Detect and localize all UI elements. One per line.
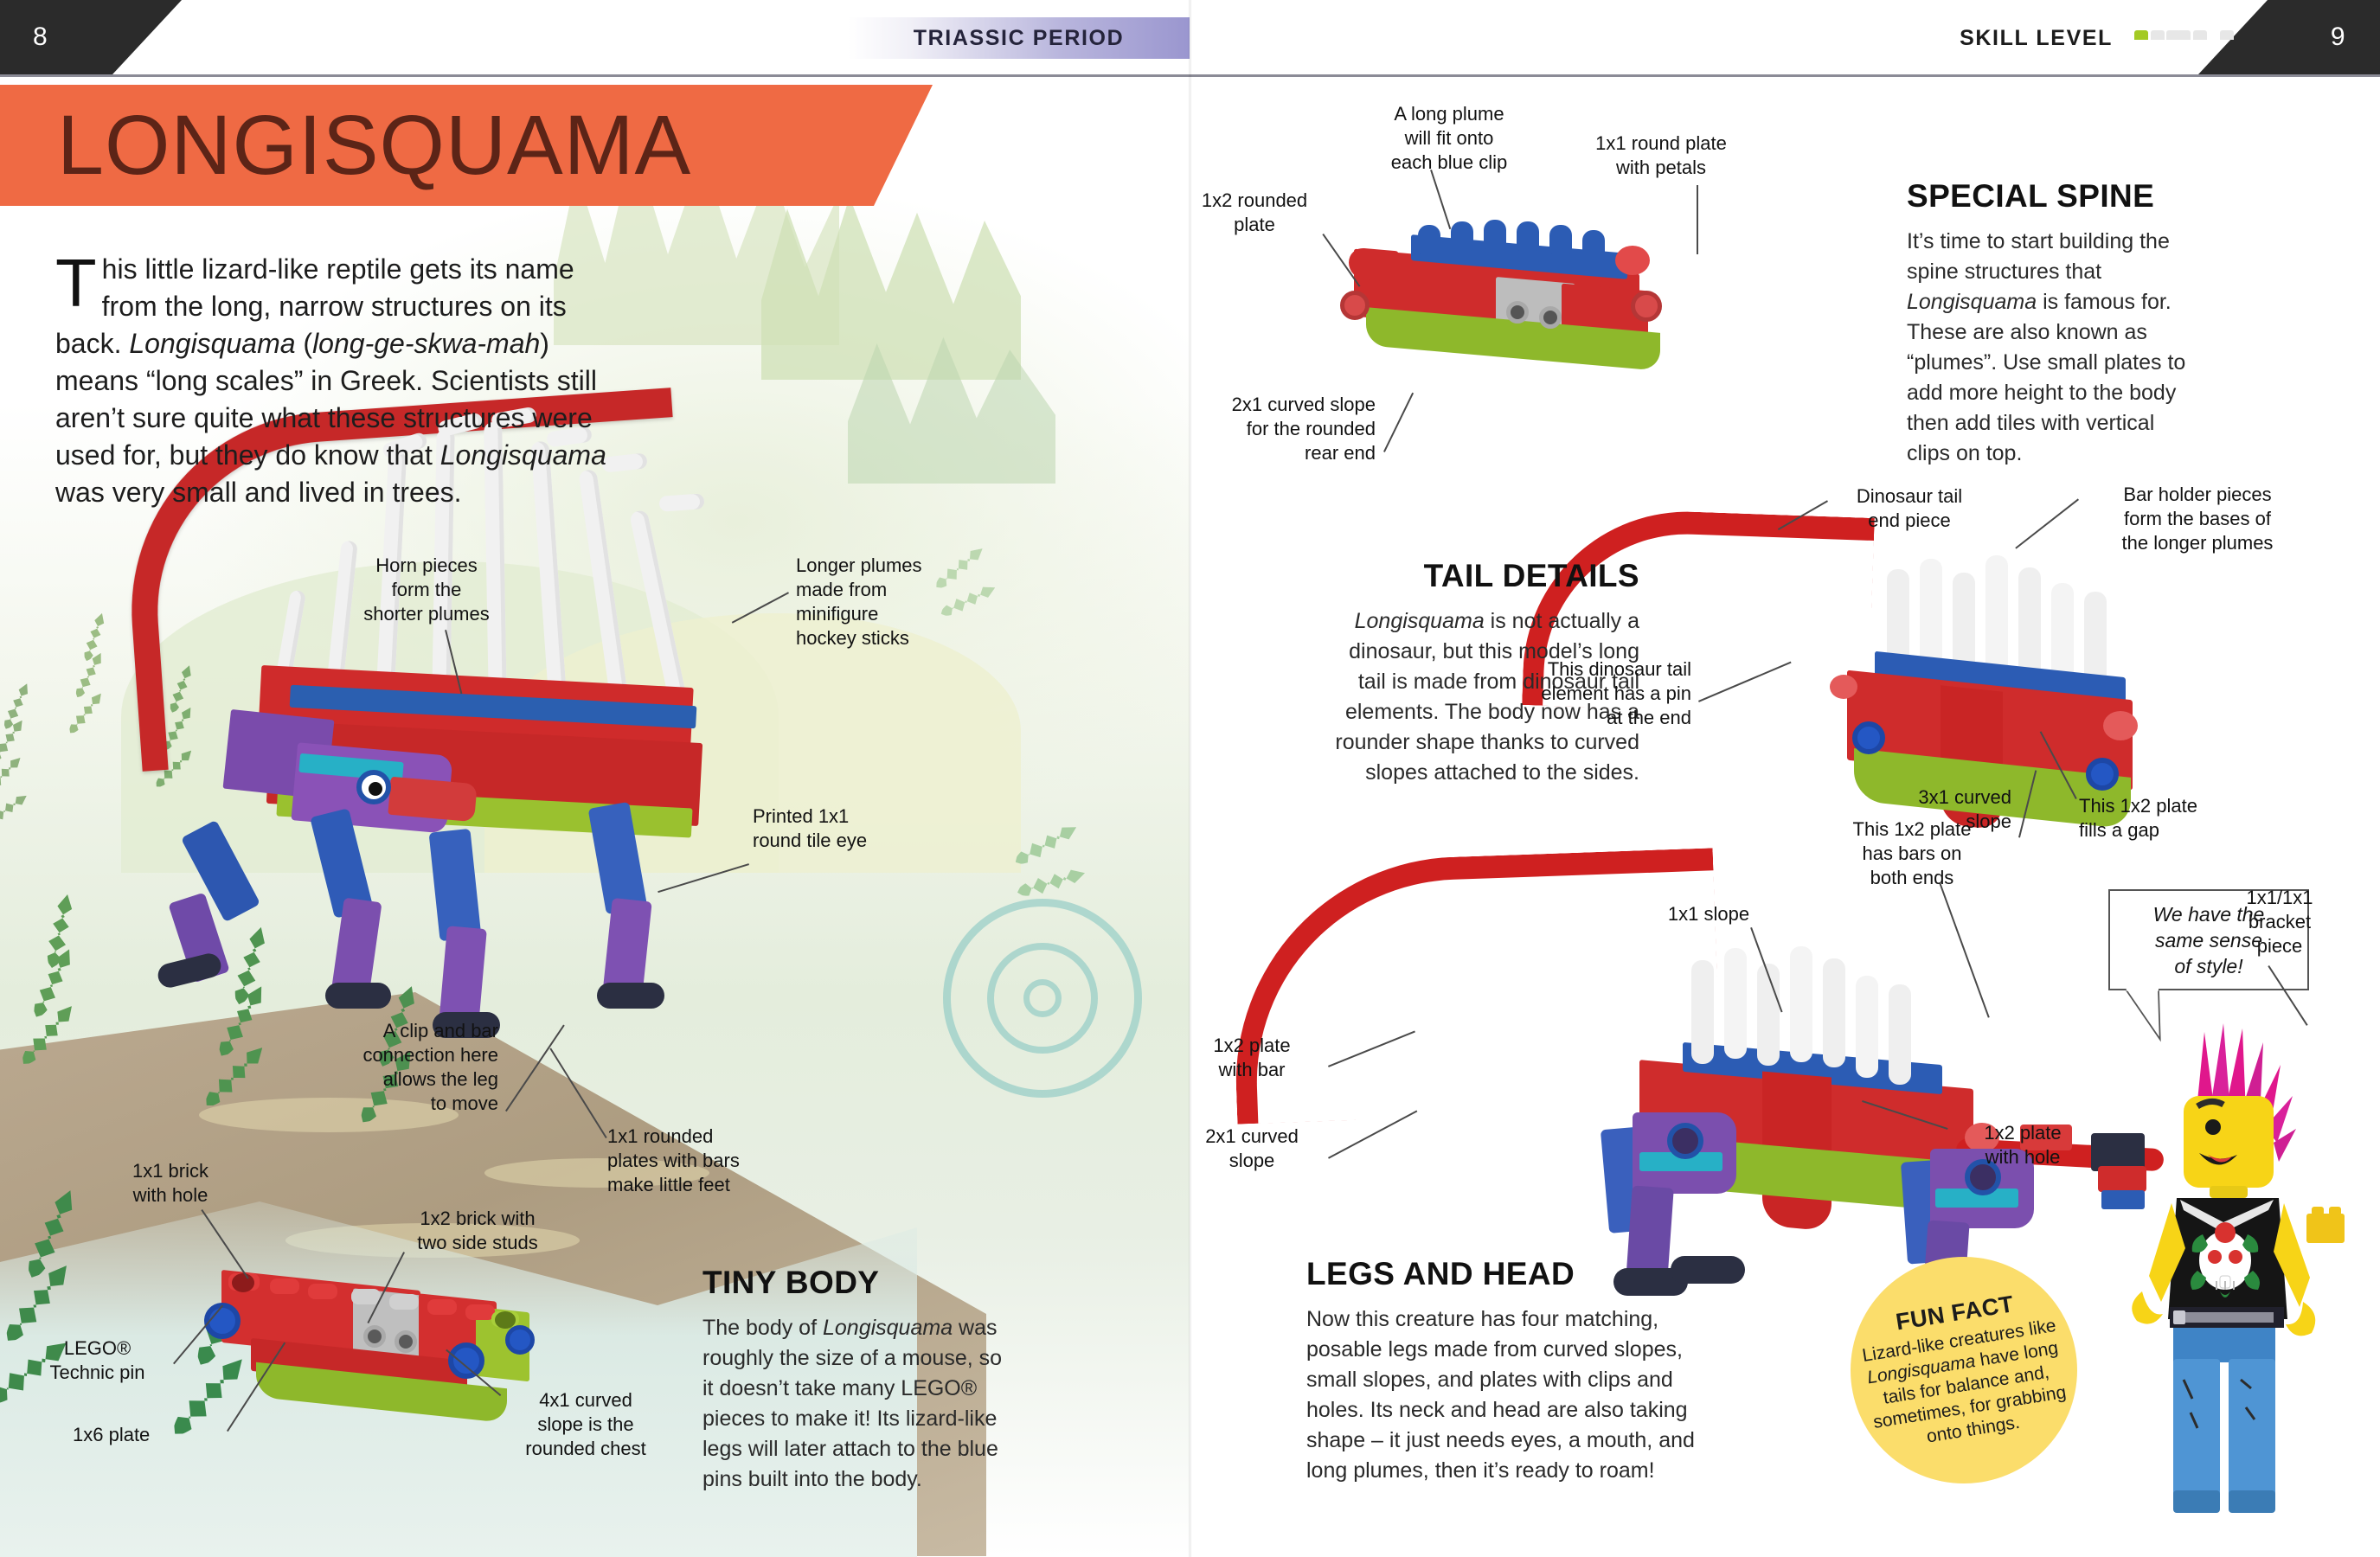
side-stud-hole — [395, 1330, 417, 1353]
minifigure-punk — [2094, 1016, 2353, 1535]
stud — [389, 1294, 419, 1310]
callout-tail-pin-at-end: This dinosaur tailelement has a pinat th… — [1484, 657, 1691, 730]
legs-head-paragraph: Now this creature has four matching, pos… — [1306, 1304, 1709, 1486]
page-number-right: 9 — [2331, 0, 2345, 74]
period-tab-label: TRIASSIC PERIOD — [914, 26, 1124, 51]
bar-holder-plume — [1985, 555, 2008, 680]
legs-head-heading: LEGS AND HEAD — [1306, 1256, 1709, 1292]
callout-dino-tail-end: Dinosaur tailend piece — [1832, 484, 1987, 533]
callout-longer-plumes: Longer plumesmade fromminifigurehockey s… — [796, 554, 978, 650]
callout-2x1-curved-rear: 2x1 curved slopefor the roundedrear end — [1190, 393, 1376, 465]
model-snout-red — [388, 777, 477, 823]
page-number-left: 8 — [33, 0, 48, 74]
special-spine-section: SPECIAL SPINE It’s time to start buildin… — [1907, 178, 2192, 469]
leg-front-eye — [1667, 1123, 1703, 1159]
model-front-foot — [325, 983, 391, 1009]
bar-holder-plume — [1757, 964, 1780, 1066]
callout-4x1-curved-slope: 4x1 curvedslope is therounded chest — [504, 1388, 668, 1461]
stud — [465, 1304, 495, 1320]
side-stud-hole — [363, 1325, 386, 1348]
tiny-body-paragraph: The body of Longisquama was roughly the … — [702, 1313, 1014, 1495]
stud — [270, 1278, 299, 1294]
intro-dropcap: T — [55, 251, 102, 310]
technic-pin — [2086, 758, 2119, 791]
side-stud-hole — [1539, 306, 1562, 329]
leader-line-2x1-curved-rear — [1383, 393, 1414, 452]
technic-pin — [1852, 721, 1885, 754]
brick-with-hole — [232, 1273, 254, 1292]
callout-1x2-plate-fills-gap: This 1x2 platefills a gap — [2079, 794, 2243, 843]
bar-holder-plume — [1856, 976, 1878, 1078]
minifig-hips — [2173, 1328, 2275, 1362]
minifig-foot-right — [2229, 1490, 2275, 1513]
brick-stud-icon — [2312, 1207, 2324, 1215]
bar-holder-plume — [1691, 960, 1714, 1064]
special-spine-build-photo — [1328, 208, 1743, 398]
technic-pin — [505, 1325, 535, 1355]
fun-fact-inner: FUN FACT Lizard-like creatures like Long… — [1841, 1282, 2088, 1458]
page-gutter — [1189, 0, 1191, 1557]
technic-pin — [1631, 291, 1662, 322]
technic-pin — [448, 1342, 484, 1379]
brick-with-hole — [495, 1311, 516, 1329]
callout-1x2-plate-both-ends: This 1x2 platehas bars onboth ends — [1830, 817, 1994, 890]
tiny-body-section: TINY BODY The body of Longisquama was ro… — [702, 1265, 1014, 1495]
model-eye-pupil — [369, 782, 382, 796]
plume-tip — [658, 493, 704, 512]
clip-blue — [1582, 230, 1605, 259]
special-spine-heading: SPECIAL SPINE — [1907, 178, 2192, 215]
callout-printed-eye: Printed 1x1round tile eye — [753, 804, 943, 853]
leader-line-1x1-round-petals — [1697, 185, 1699, 254]
side-stud-hole — [1506, 301, 1529, 324]
bar-holder-plume — [1823, 958, 1845, 1067]
distant-foliage — [761, 181, 1021, 380]
minifig-left-hand — [2132, 1291, 2163, 1324]
callout-1x1-round-petals: 1x1 round platewith petals — [1570, 131, 1752, 180]
book-page-spread: Horn piecesform theshorter plumes Longer… — [0, 0, 2380, 1557]
round-plate-petals — [1830, 675, 1857, 699]
right-page-header: 9 SKILL LEVEL — [1190, 0, 2380, 74]
clip-blue — [1517, 221, 1539, 251]
title-banner: LONGISQUAMA — [0, 85, 933, 206]
tail-details-heading: TAIL DETAILS — [1332, 558, 1639, 594]
callout-1x2-brick-side-studs: 1x2 brick withtwo side studs — [391, 1207, 564, 1255]
callout-rounded-feet: 1x1 roundedplates with barsmake little f… — [607, 1124, 798, 1197]
bar-holder-plume — [1889, 984, 1911, 1085]
minifig-foot-left — [2173, 1490, 2220, 1513]
belt-studs — [2184, 1312, 2274, 1323]
minifig-head — [2184, 1096, 2274, 1188]
left-page: Horn piecesform theshorter plumes Longer… — [0, 0, 1190, 1557]
belt-buckle — [2173, 1310, 2185, 1324]
callout-1x1-brick-with-hole: 1x1 brickwith hole — [97, 1159, 244, 1208]
callout-long-plume-clip: A long plumewill fit ontoeach blue clip — [1363, 102, 1536, 175]
brick-stud-icon — [2151, 30, 2165, 40]
callout-1x2-rounded-plate: 1x2 roundedplate — [1190, 189, 1332, 237]
brick-stud-icon — [2134, 30, 2148, 40]
legs-head-section: LEGS AND HEAD Now this creature has four… — [1306, 1256, 1709, 1486]
stud — [351, 1289, 381, 1304]
callout-1x2-plate-with-bar: 1x2 platewith bar — [1190, 1034, 1330, 1082]
right-page: 9 SKILL LEVEL — [1190, 0, 2380, 1557]
brick-stud-icon — [2220, 30, 2234, 40]
round-plate-petals — [2103, 711, 2138, 740]
model-mid-leg — [429, 829, 482, 941]
callout-1x6-plate: 1x6 plate — [73, 1423, 220, 1447]
clip-blue — [1549, 225, 1572, 254]
model-rear-foot — [597, 983, 664, 1009]
header-rule-left — [0, 74, 1190, 77]
round-plate-petals — [1615, 246, 1650, 275]
minifig-right-hand — [2286, 1302, 2315, 1336]
minifig-neck — [2210, 1186, 2248, 1198]
bar-holder-plume — [1790, 946, 1812, 1062]
callout-clip-and-bar: A clip and barconnection hereallows the … — [308, 1019, 498, 1116]
stud — [427, 1299, 457, 1315]
callout-horn-pieces: Horn piecesform theshorter plumes — [344, 554, 509, 626]
skill-level-label: SKILL LEVEL — [1960, 26, 2113, 51]
clip-blue — [1451, 221, 1473, 251]
clip-blue — [1484, 220, 1506, 249]
skill-level-indicator: SKILL LEVEL — [1960, 19, 2159, 57]
period-tab: TRIASSIC PERIOD — [848, 17, 1190, 59]
eye — [2205, 1119, 2221, 1135]
page-title: LONGISQUAMA — [57, 100, 691, 190]
header-rule-right — [1190, 74, 2380, 77]
tiny-body-heading: TINY BODY — [702, 1265, 1014, 1301]
minifig-leg-right — [2229, 1359, 2275, 1497]
bar-holder-plume — [1724, 948, 1747, 1059]
callout-technic-pin: LEGO®Technic pin — [26, 1336, 169, 1385]
special-spine-paragraph: It’s time to start building the spine st… — [1907, 227, 2192, 469]
clip-blue — [1418, 225, 1440, 254]
brick-stud-icon — [2166, 30, 2180, 40]
technic-pin — [1340, 291, 1370, 320]
stud — [308, 1284, 337, 1299]
yellow-brick-prop — [2306, 1214, 2345, 1243]
callout-bracket-piece: 1x1/1x1bracketpiece — [2219, 886, 2340, 958]
left-page-header: 8 TRIASSIC PERIOD — [0, 0, 1190, 74]
callout-1x2-plate-with-hole: 1x2 platewith hole — [1949, 1121, 2096, 1169]
callout-bar-holder-pieces: Bar holder piecesform the bases ofthe lo… — [2081, 483, 2314, 555]
callout-1x1-slope: 1x1 slope — [1644, 902, 1774, 926]
brick-stud-icon — [2193, 30, 2207, 40]
main-model-photo — [130, 398, 1073, 1202]
callout-2x1-curved-slope-legs: 2x1 curvedslope — [1190, 1124, 1330, 1173]
page-corner-black — [0, 0, 182, 74]
brick-stud-icon — [2329, 1207, 2341, 1215]
intro-paragraph: This little lizard-like reptile gets its… — [55, 251, 626, 511]
fun-fact-bubble: FUN FACT Lizard-like creatures like Long… — [1851, 1257, 2077, 1483]
